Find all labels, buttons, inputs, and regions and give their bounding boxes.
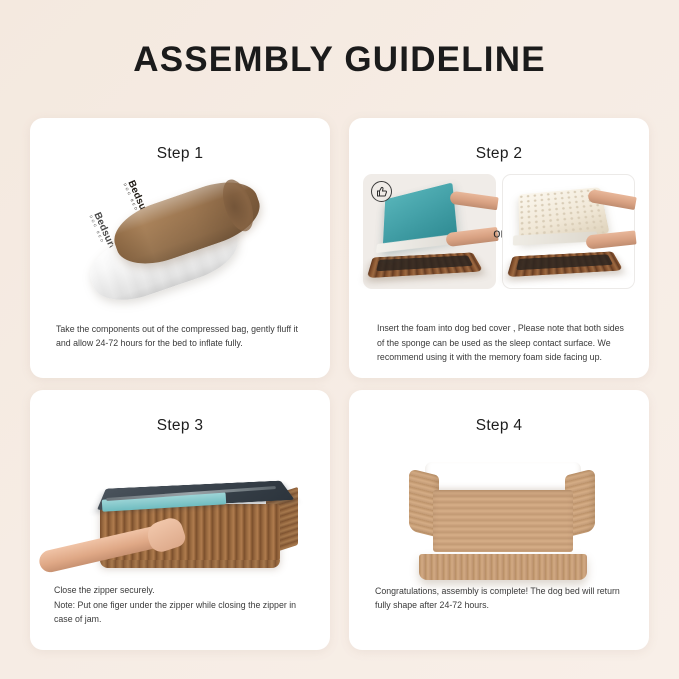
bed-backrest xyxy=(425,462,581,492)
step-3-heading: Step 3 xyxy=(30,390,330,435)
step-1-illustration: Bedsure DOG BED Bedsure DOG BED xyxy=(30,176,330,316)
dog-bed-base xyxy=(507,251,624,277)
step-card-2: Step 2 or xyxy=(349,118,649,378)
step-3-caption: Close the zipper securely. Note: Put one… xyxy=(54,583,308,626)
step-2-illustration: or xyxy=(361,174,637,292)
step-1-heading: Step 1 xyxy=(30,118,330,163)
step-card-1: Step 1 Bedsure DOG BED Bedsure DOG BED T… xyxy=(30,118,330,378)
step-3-illustration xyxy=(30,452,330,592)
steps-grid: Step 1 Bedsure DOG BED Bedsure DOG BED T… xyxy=(30,118,649,650)
step-card-3: Step 3 Close the zipper securely. Note: … xyxy=(30,390,330,650)
step-2-option-memoryfoam-panel xyxy=(502,174,635,289)
step-2-option-teal-panel xyxy=(363,174,496,289)
hand-upper xyxy=(449,191,498,211)
step-4-caption: Congratulations, assembly is complete! T… xyxy=(375,584,627,613)
dog-bed-base xyxy=(367,252,484,278)
step-4-heading: Step 4 xyxy=(349,390,649,435)
page-title: ASSEMBLY GUIDELINE xyxy=(0,0,679,77)
thumbs-up-icon xyxy=(371,181,392,202)
step-card-4: Step 4 Congratulations, assembly is comp… xyxy=(349,390,649,650)
step-2-caption: Insert the foam into dog bed cover , Ple… xyxy=(377,321,631,364)
bed-front-edge xyxy=(419,554,587,580)
step-2-heading: Step 2 xyxy=(349,118,649,163)
step-1-caption: Take the components out of the compresse… xyxy=(56,322,308,351)
bed-mattress-surface xyxy=(433,490,573,552)
finished-dog-bed xyxy=(407,462,597,582)
